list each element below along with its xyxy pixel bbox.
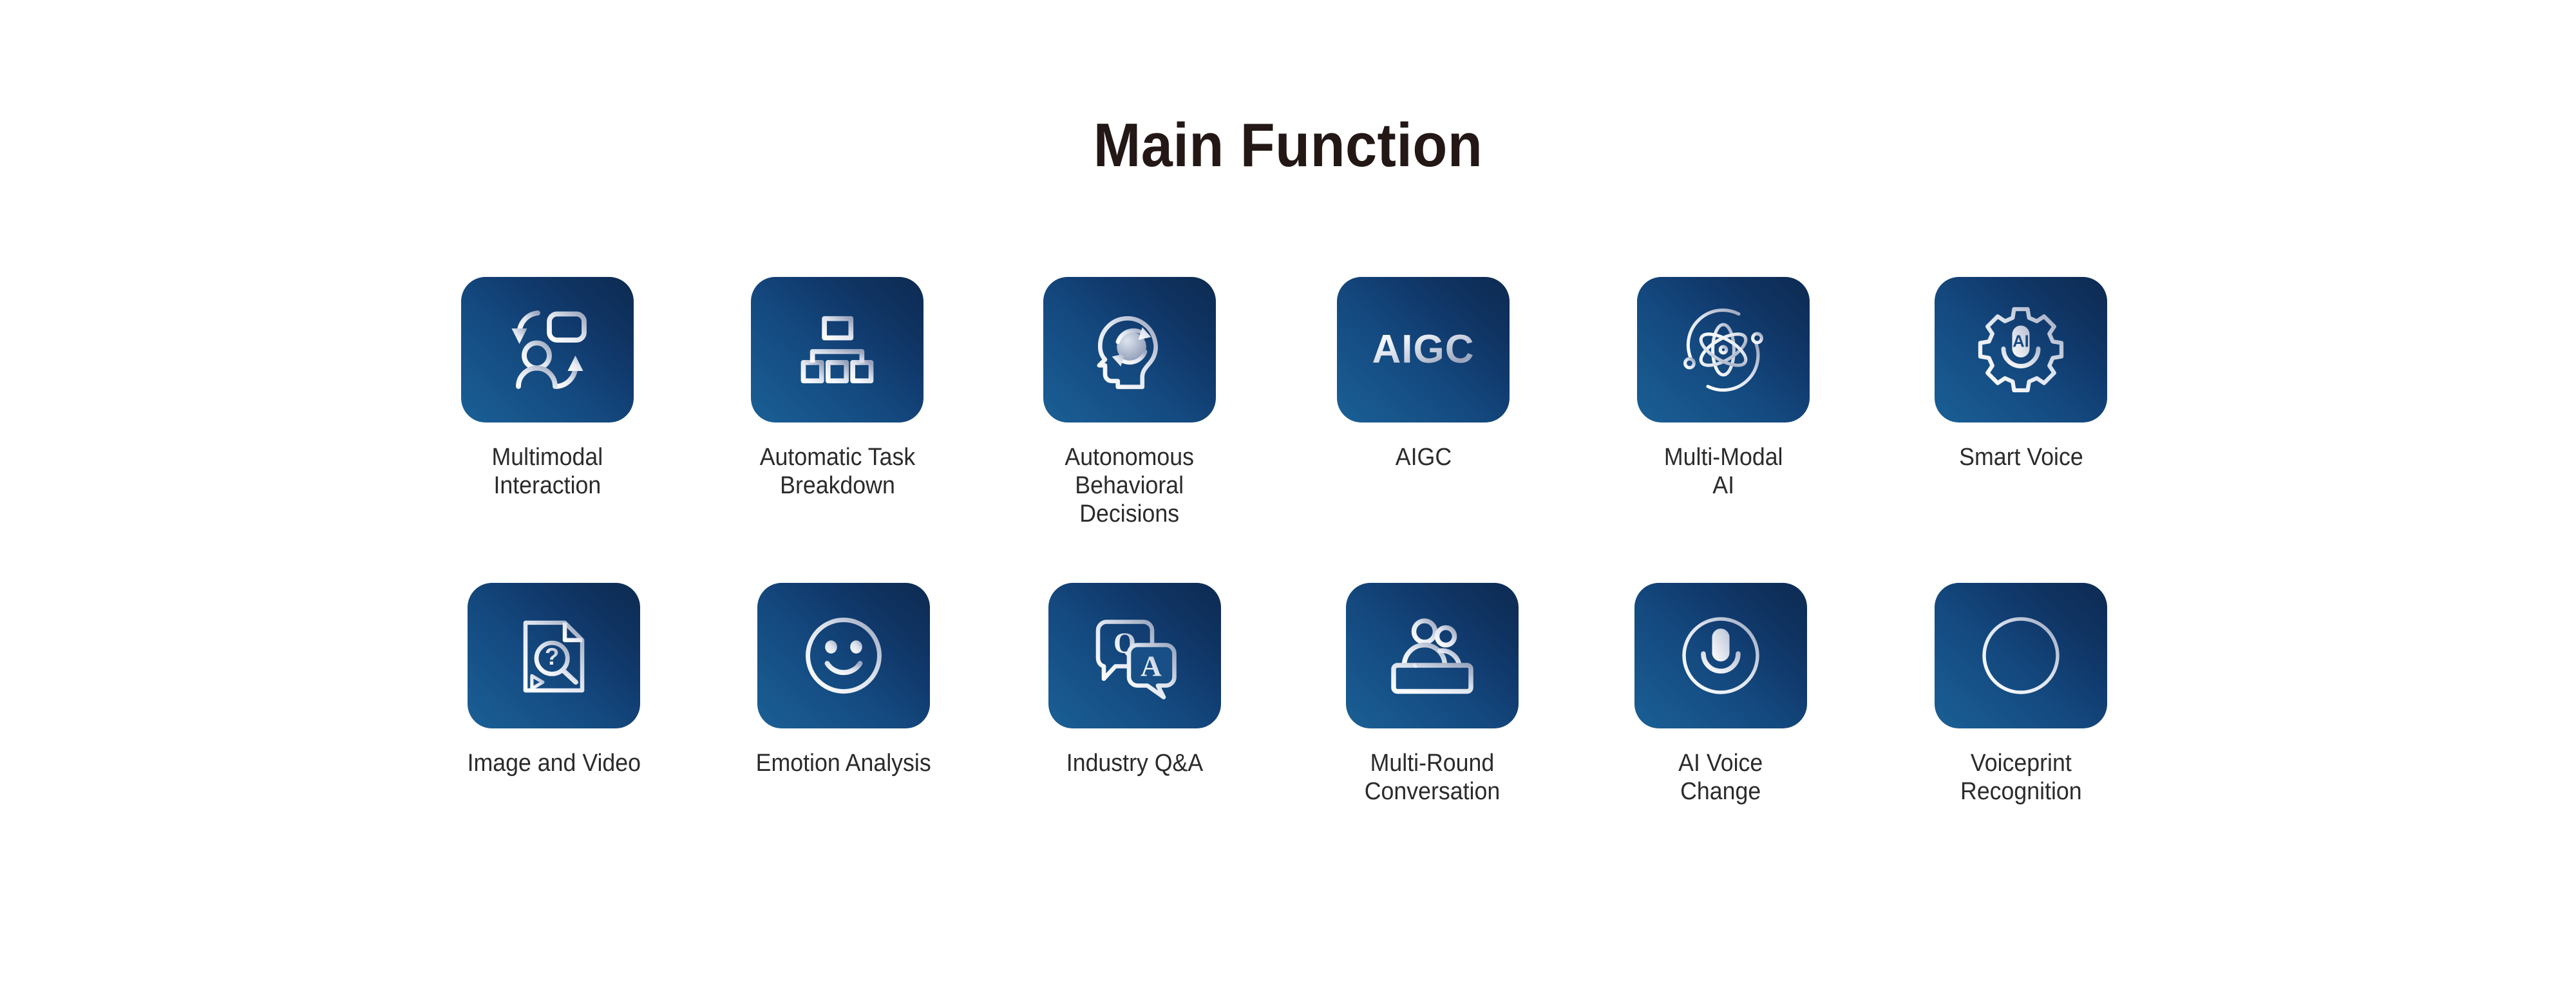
- feature-label: AIGC: [1395, 443, 1451, 471]
- feature-tile[interactable]: [1935, 583, 2107, 728]
- feature-tile[interactable]: [1637, 277, 1810, 422]
- feature-label: Industry Q&A: [1066, 749, 1203, 777]
- atom-icon: [1675, 301, 1772, 398]
- gear-microphone-ai-text: AI: [2012, 333, 2029, 351]
- feature-label: Automatic Task Breakdown: [759, 443, 915, 500]
- feature-label: Emotion Analysis: [756, 749, 931, 777]
- microphone-circle-icon: [1672, 607, 1769, 704]
- feature-tile[interactable]: ?: [468, 583, 640, 728]
- feature-tile[interactable]: Q A: [1048, 583, 1221, 728]
- feature-tile[interactable]: [1634, 583, 1807, 728]
- feature-label: Autonomous Behavioral Decisions: [1065, 443, 1195, 528]
- feature-tile[interactable]: AIGC: [1337, 277, 1510, 422]
- feature-label: AI Voice Change: [1678, 749, 1763, 806]
- feature-label: Multi-Modal AI: [1664, 443, 1783, 500]
- feature-label: Voiceprint Recognition: [1960, 749, 2082, 806]
- feature-card-emotion-analysis[interactable]: Emotion Analysis: [696, 583, 992, 777]
- feature-tile[interactable]: [1043, 277, 1216, 422]
- qa-speech-bubbles-icon: Q A: [1086, 607, 1183, 704]
- feature-row-2: ? Image and Video: [399, 583, 2177, 806]
- feature-card-industry-qa[interactable]: Q A Industry Q&A: [987, 583, 1283, 777]
- document-search-video-icon: ?: [508, 610, 600, 701]
- people-desk-icon: [1384, 607, 1481, 704]
- feature-tile[interactable]: [757, 583, 930, 728]
- feature-tile[interactable]: AI: [1935, 277, 2107, 422]
- a-glyph: A: [1141, 650, 1162, 683]
- feature-card-image-and-video[interactable]: ? Image and Video: [406, 583, 702, 777]
- hierarchy-icon: [791, 304, 883, 395]
- feature-card-multimodal-interaction[interactable]: Multimodal Interaction: [399, 277, 696, 500]
- feature-card-smart-voice[interactable]: AI Smart Voice: [1873, 277, 2169, 471]
- smiley-face-icon: [795, 607, 892, 704]
- feature-card-aigc[interactable]: AIGC AIGC: [1275, 277, 1571, 471]
- question-mark-glyph: ?: [545, 643, 560, 670]
- feature-card-automatic-task-breakdown[interactable]: Automatic Task Breakdown: [689, 277, 985, 500]
- feature-card-ai-voice-change[interactable]: AI Voice Change: [1573, 583, 1869, 806]
- feature-row-1: Multimodal Interaction: [399, 277, 2177, 528]
- feature-label: Multi-Round Conversation: [1365, 749, 1500, 806]
- page-root: Main Function: [0, 0, 2576, 1006]
- feature-card-autonomous-behavioral-decisions[interactable]: Autonomous Behavioral Decisions: [981, 277, 1278, 528]
- feature-tile[interactable]: [461, 277, 634, 422]
- head-refresh-icon: [1081, 301, 1179, 399]
- feature-label: Multimodal Interaction: [492, 443, 603, 500]
- feature-label: Smart Voice: [1959, 443, 2083, 471]
- multimodal-interaction-icon: [499, 301, 596, 398]
- waveform-circle-icon: [1973, 607, 2069, 704]
- page-title: Main Function: [103, 115, 2473, 176]
- feature-tile[interactable]: [1346, 583, 1519, 728]
- aigc-text-icon: AIGC: [1372, 330, 1475, 370]
- gear-microphone-icon: AI: [1973, 301, 2069, 398]
- feature-label: Image and Video: [467, 749, 640, 777]
- feature-card-voiceprint-recognition[interactable]: Voiceprint Recognition: [1873, 583, 2169, 806]
- feature-grid: Multimodal Interaction: [399, 277, 2177, 806]
- feature-card-multi-round-conversation[interactable]: Multi-Round Conversation: [1284, 583, 1580, 806]
- feature-tile[interactable]: [751, 277, 923, 422]
- feature-card-multi-modal-ai[interactable]: Multi-Modal AI: [1575, 277, 1871, 500]
